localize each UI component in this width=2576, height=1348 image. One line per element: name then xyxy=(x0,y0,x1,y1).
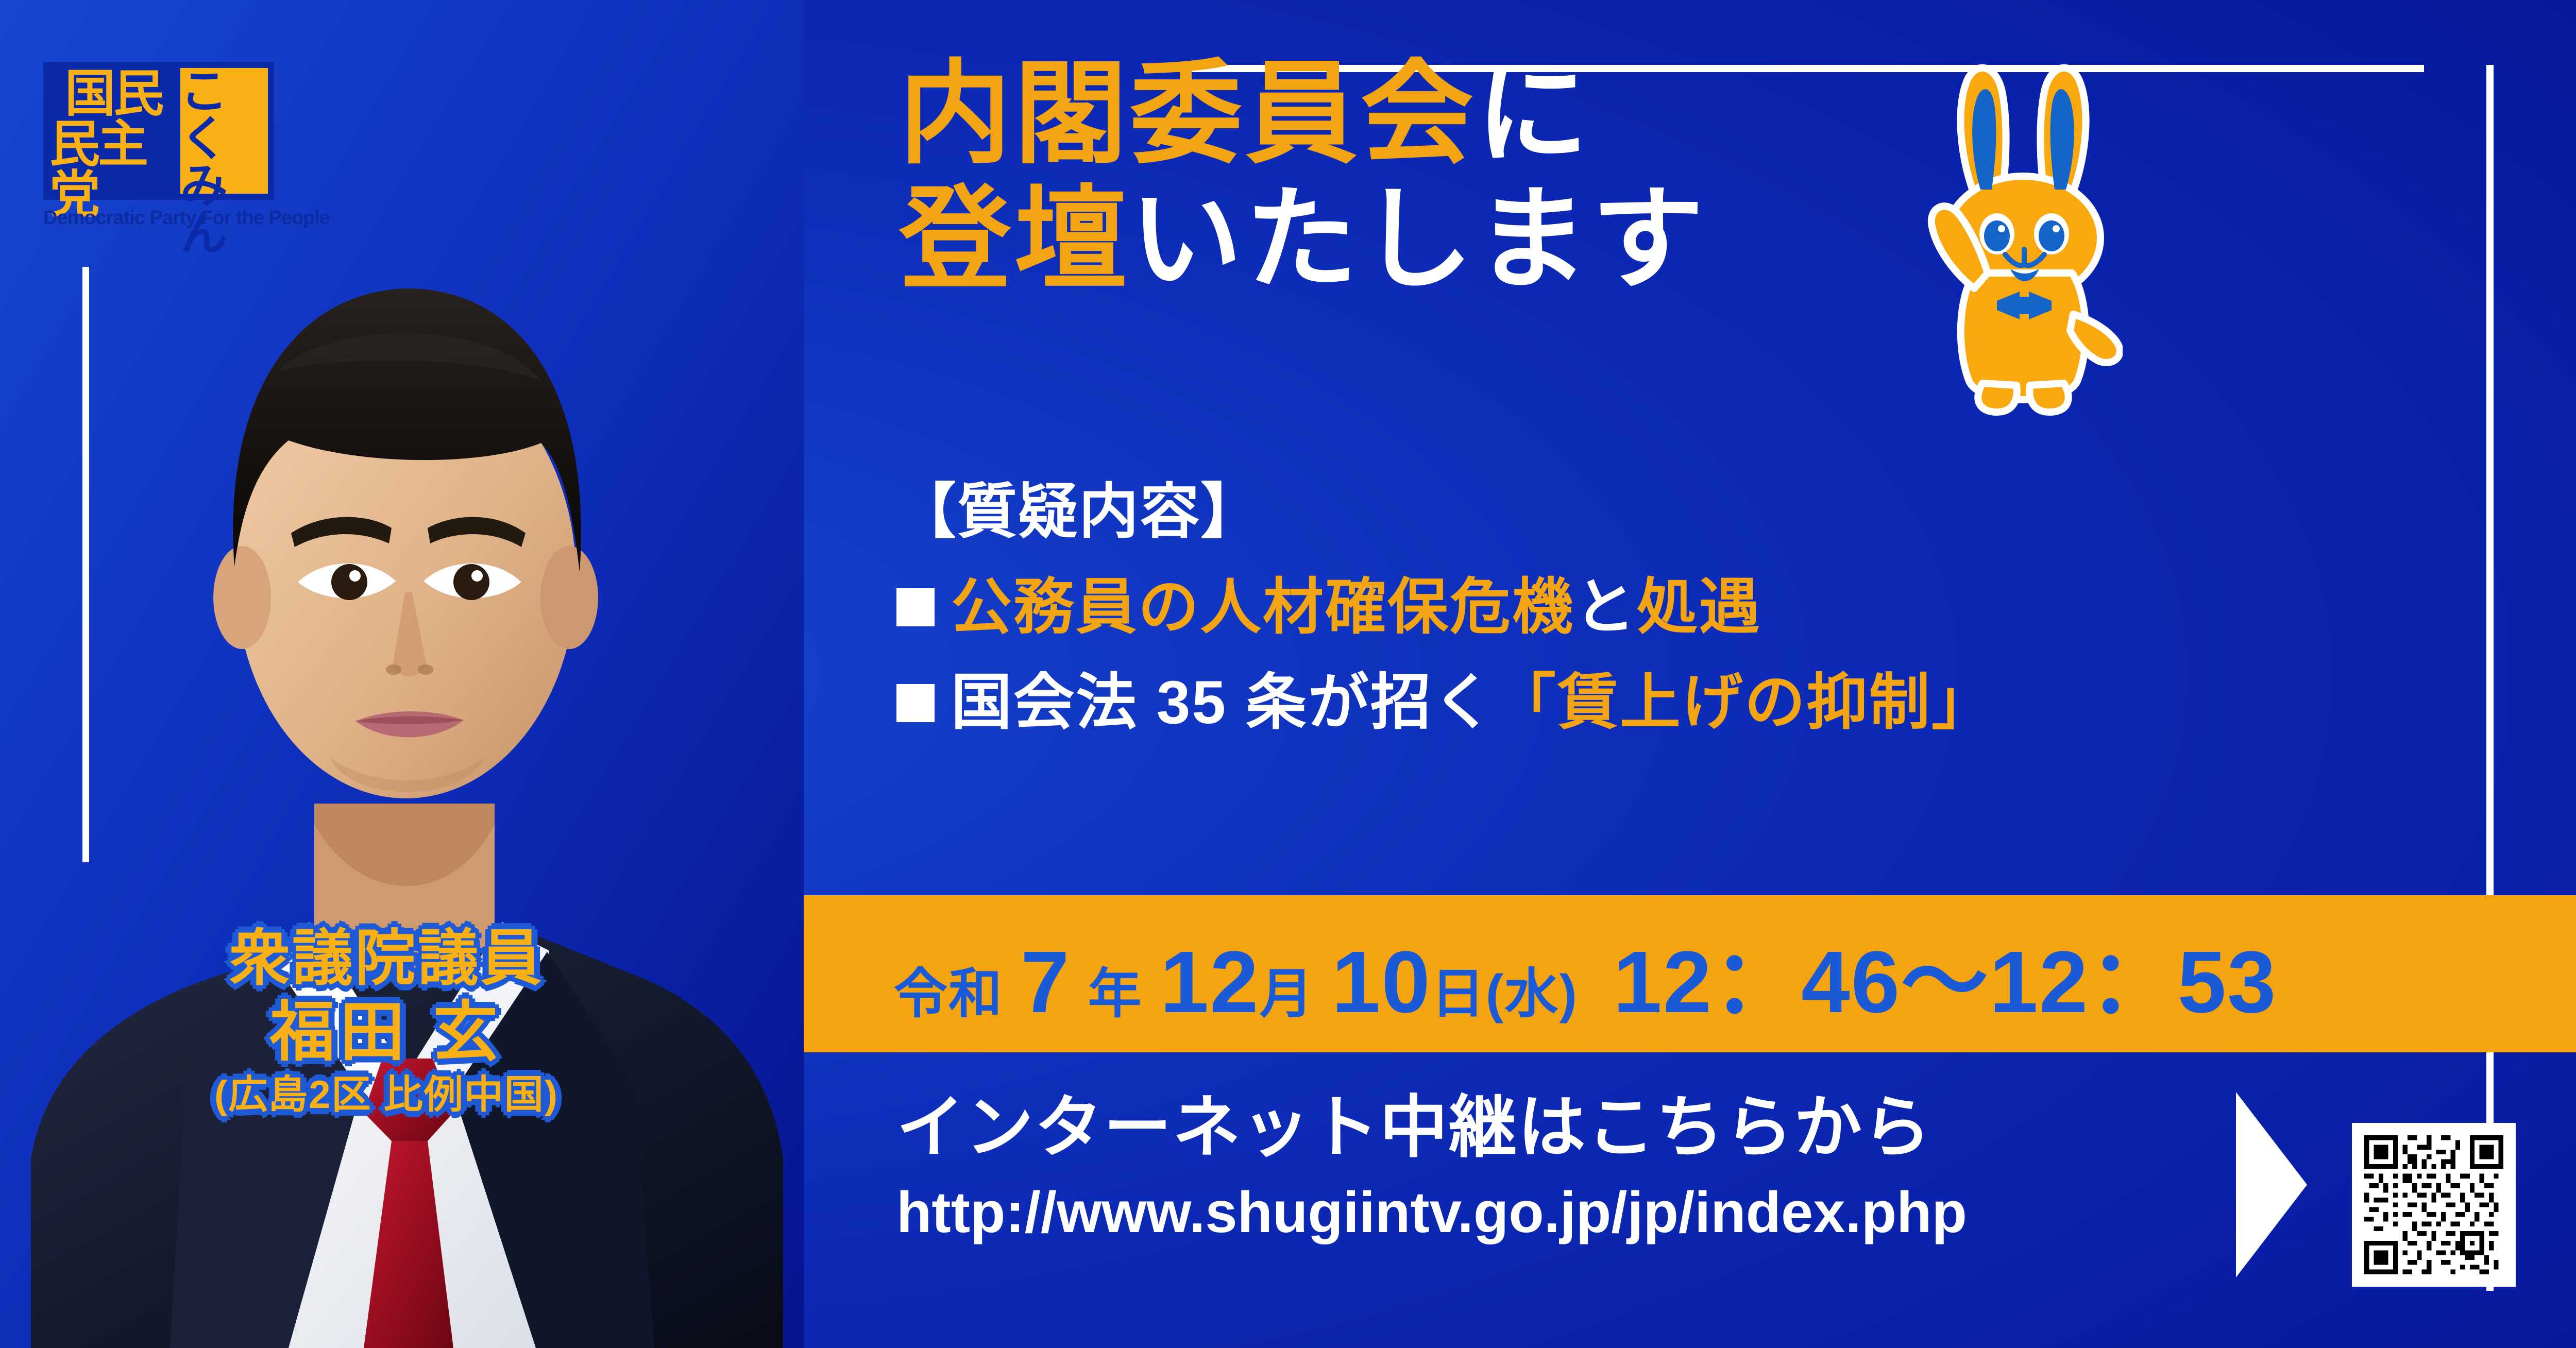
party-logo-tagline: Democratic Party For the People xyxy=(43,207,332,229)
date-time-band: 令和7年12月10日(水)12：46〜12：53 xyxy=(804,895,2576,1052)
date-time-text: 令和7年12月10日(水)12：46〜12：53 xyxy=(894,911,2277,1037)
date-weekday: (水) xyxy=(1486,950,1578,1028)
date-year-unit: 年 xyxy=(1088,950,1143,1028)
qa-item-1-part-b: と xyxy=(1574,573,1637,641)
date-day-unit: 日 xyxy=(1431,950,1486,1028)
nameplate-role: 衆議院議員 xyxy=(77,927,696,991)
nameplate-name: 福田 玄 xyxy=(77,998,696,1066)
rabbit-mascot-icon xyxy=(1896,57,2123,417)
time-end: 12：53 xyxy=(1989,911,2277,1037)
qr-code[interactable] xyxy=(2352,1123,2516,1287)
qa-item-2-part-a: 国会法 35 条が招く xyxy=(951,669,1495,737)
headline-line2-yellow: 登壇 xyxy=(899,177,1130,302)
qa-item-1-text: 公務員の人材確保危機と処遇 xyxy=(951,575,1761,640)
date-era: 令和 xyxy=(894,950,1003,1028)
qa-section: 【質疑内容】 公務員の人材確保危機と処遇 国会法 35 条が招く「賃上げの抑制」 xyxy=(896,479,2473,736)
qa-item-1: 公務員の人材確保危機と処遇 xyxy=(896,575,2473,640)
date-month: 12 xyxy=(1160,932,1260,1033)
headline-line-1: 内閣委員会に xyxy=(899,52,2022,177)
content-column: 内閣委員会に 登壇いたします xyxy=(804,0,2576,1348)
party-logo-kanji: 国民 民主党 xyxy=(49,68,177,194)
right-triangle-arrow-icon xyxy=(2236,1092,2307,1277)
time-start: 12：46 xyxy=(1613,911,1901,1037)
campaign-poster: 国民 民主党 こく みん Democratic Party For the Pe… xyxy=(0,0,2576,1348)
party-logo-mark: 国民 民主党 こく みん xyxy=(43,62,274,200)
square-bullet-icon xyxy=(896,588,935,626)
headline-line1-yellow: 内閣委員会 xyxy=(899,52,1476,177)
date-month-unit: 月 xyxy=(1260,950,1314,1028)
nameplate-district: (広島2区 比例中国) xyxy=(77,1074,696,1116)
qa-item-2-text: 国会法 35 条が招く「賃上げの抑制」 xyxy=(951,670,1994,736)
date-day: 10 xyxy=(1332,932,1431,1033)
party-logo: 国民 民主党 こく みん Democratic Party For the Pe… xyxy=(43,62,332,229)
party-logo-kana-line1: こく xyxy=(180,68,268,163)
date-year: 7 xyxy=(1021,932,1071,1033)
party-logo-kanji-line1: 国民 xyxy=(65,68,162,118)
headline: 内閣委員会に 登壇いたします xyxy=(899,52,2022,303)
nameplate: 衆議院議員 福田 玄 (広島2区 比例中国) xyxy=(77,927,696,1116)
qa-item-1-part-c: 処遇 xyxy=(1637,573,1761,641)
qa-item-2: 国会法 35 条が招く「賃上げの抑制」 xyxy=(896,670,2473,736)
square-bullet-icon xyxy=(896,684,935,722)
qa-heading: 【質疑内容】 xyxy=(896,479,2473,545)
party-logo-kana: こく みん xyxy=(180,68,268,194)
qa-item-1-part-a: 公務員の人材確保危機 xyxy=(951,573,1574,641)
qa-item-2-part-b: 「賃上げの抑制」 xyxy=(1495,669,1994,737)
headline-line2-white: いたします xyxy=(1130,177,1707,302)
broadcast-link-block: インターネット中継はこちらから http://www.shugiintv.go.… xyxy=(896,1092,2494,1242)
frame-line-left xyxy=(82,267,89,862)
headline-line1-white: に xyxy=(1476,52,1591,177)
party-logo-kanji-line2: 民主党 xyxy=(49,118,177,219)
time-tilde: 〜 xyxy=(1901,911,1989,1037)
headline-line-2: 登壇いたします xyxy=(899,177,2022,303)
